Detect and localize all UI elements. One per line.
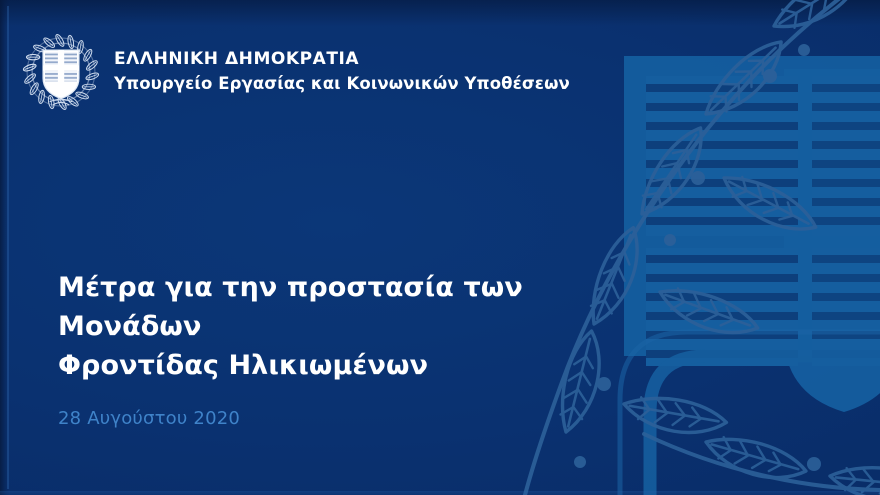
slide-date: 28 Αυγούστου 2020 xyxy=(58,408,240,429)
bottom-edge-line xyxy=(0,491,880,495)
organization-name: ΕΛΛΗΝΙΚΗ ΔΗΜΟΚΡΑΤΙΑ xyxy=(114,50,570,70)
title-block: Μέτρα για την προστασία των Μονάδων Φρον… xyxy=(58,268,618,385)
left-edge-line xyxy=(7,6,9,489)
slide-title-line-1: Μέτρα για την προστασία των Μονάδων xyxy=(58,268,618,346)
top-shade xyxy=(0,0,880,26)
presentation-slide: ΕΛΛΗΝΙΚΗ ΔΗΜΟΚΡΑΤΙΑ Υπουργείο Εργασίας κ… xyxy=(0,0,880,495)
slide-title-line-2: Φροντίδας Ηλικιωμένων xyxy=(58,346,618,385)
header-text: ΕΛΛΗΝΙΚΗ ΔΗΜΟΚΡΑΤΙΑ Υπουργείο Εργασίας κ… xyxy=(114,50,570,93)
greek-coat-of-arms-icon xyxy=(22,33,100,111)
ministry-name: Υπουργείο Εργασίας και Κοινωνικών Υποθέσ… xyxy=(114,74,570,94)
header: ΕΛΛΗΝΙΚΗ ΔΗΜΟΚΡΑΤΙΑ Υπουργείο Εργασίας κ… xyxy=(22,33,570,111)
